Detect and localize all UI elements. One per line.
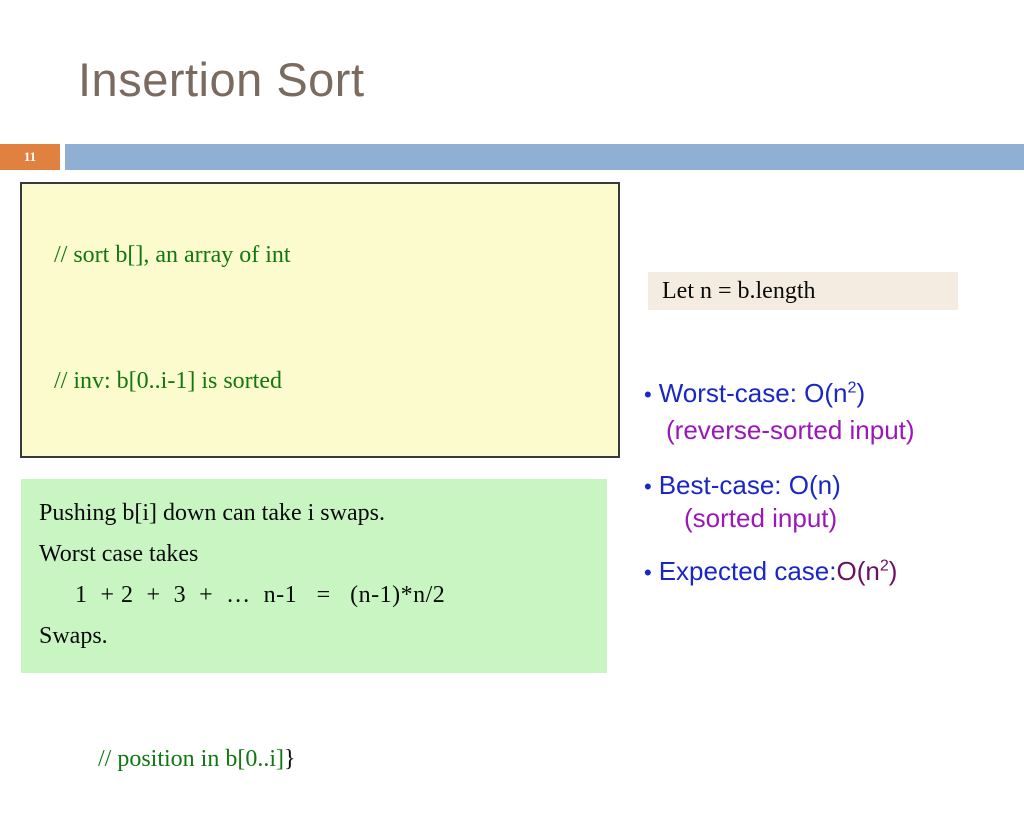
slide-divider-band: 11 bbox=[0, 144, 1024, 170]
swaps-line-4: Swaps. bbox=[39, 616, 607, 657]
code-comment: // sort b[], an array of int bbox=[54, 242, 291, 268]
page-title: Insertion Sort bbox=[78, 52, 365, 107]
worst-case-note: (reverse-sorted input) bbox=[644, 415, 1024, 446]
expected-case-paren: ) bbox=[889, 556, 898, 586]
bullet-icon: • bbox=[644, 476, 652, 498]
code-block: // sort b[], an array of int // inv: b[0… bbox=[20, 182, 620, 458]
expected-case-exponent: 2 bbox=[880, 556, 889, 574]
code-line: // inv: b[0..i-1] is sorted bbox=[30, 318, 618, 444]
list-item: • Expected case: O(n2) bbox=[644, 556, 1024, 587]
expected-case-label: Expected case: bbox=[659, 556, 837, 587]
swaps-summation-formula: 1 + 2 + 3 + … n-1 = (n-1)*n/2 bbox=[39, 575, 607, 616]
code-line: // position in b[0..i]} bbox=[30, 696, 618, 822]
best-case-label: Best-case: O(n) bbox=[659, 470, 841, 501]
let-n-definition-box: Let n = b.length bbox=[648, 272, 958, 310]
slide-number-badge: 11 bbox=[0, 144, 60, 170]
worst-case-label: Worst-case: O(n2) bbox=[659, 378, 865, 409]
expected-case-big-o: O(n bbox=[836, 556, 879, 586]
list-item: • Best-case: O(n) bbox=[644, 470, 1024, 501]
code-comment: // inv: b[0..i-1] is sorted bbox=[54, 368, 282, 394]
bullet-icon: • bbox=[644, 562, 652, 584]
complexity-list: • Worst-case: O(n2) (reverse-sorted inpu… bbox=[644, 378, 1024, 587]
expected-case-complexity: O(n2) bbox=[836, 556, 897, 587]
divider-bar bbox=[65, 144, 1024, 170]
swaps-line-1: Pushing b[i] down can take i swaps. bbox=[39, 493, 607, 534]
worst-case-text: Worst-case: O(n bbox=[659, 378, 848, 408]
swaps-explanation-box: Pushing b[i] down can take i swaps. Wors… bbox=[21, 479, 607, 673]
code-comment: // position in b[0..i] bbox=[98, 746, 284, 772]
code-line: // sort b[], an array of int bbox=[30, 192, 618, 318]
list-item: • Worst-case: O(n2) bbox=[644, 378, 1024, 409]
bullet-icon: • bbox=[644, 384, 652, 406]
worst-case-paren: ) bbox=[856, 378, 865, 408]
code-closing-brace: } bbox=[284, 746, 296, 772]
swaps-line-2: Worst case takes bbox=[39, 534, 607, 575]
best-case-note: (sorted input) bbox=[644, 503, 1024, 534]
